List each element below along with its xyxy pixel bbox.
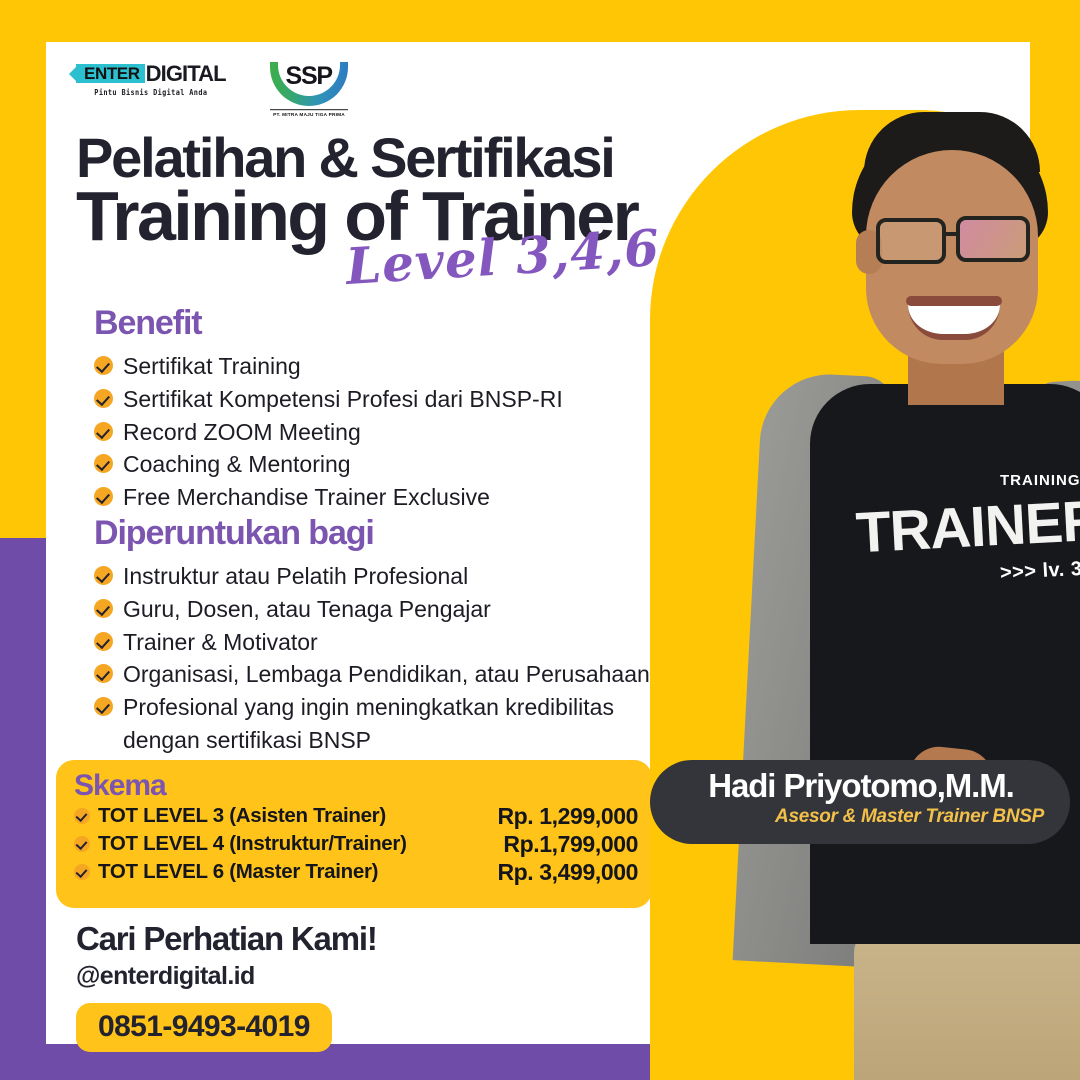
target-item-label: Guru, Dosen, atau Tenaga Pengajar	[123, 594, 491, 625]
target-item-label: Trainer & Motivator	[123, 627, 318, 658]
background-purple-left-band	[0, 538, 46, 1080]
ssp-mark-text: SSP	[270, 64, 348, 89]
check-icon	[94, 599, 113, 618]
check-icon	[94, 697, 113, 716]
target-audience-section: Diperuntukan bagi Instruktur atau Pelati…	[94, 514, 734, 756]
target-audience-list: Instruktur atau Pelatih ProfesionalGuru,…	[94, 561, 734, 723]
contact-cta-title: Cari Perhatian Kami!	[76, 920, 576, 958]
benefit-heading: Benefit	[94, 304, 714, 343]
ssp-logo: SSP PT. MITRA MAJU TIGA PRIMA	[268, 62, 350, 118]
tshirt-print-level: >>> lv. 3	[999, 558, 1080, 585]
check-icon	[94, 356, 113, 375]
check-icon	[94, 632, 113, 651]
phone-number-button[interactable]: 0851-9493-4019	[76, 1003, 332, 1052]
benefit-section: Benefit Sertifikat TrainingSertifikat Ko…	[94, 304, 714, 515]
enter-digital-tagline: Pintu Bisnis Digital Anda	[82, 88, 220, 97]
skema-heading: Skema	[74, 770, 638, 802]
check-icon	[94, 389, 113, 408]
enter-digital-logo: ENTER DIGITAL Pintu Bisnis Digital Anda	[76, 62, 226, 97]
benefit-item-label: Sertifikat Training	[123, 351, 301, 382]
speaker-name: Hadi Priyotomo,M.M.	[674, 769, 1048, 804]
upper-lip	[906, 296, 1002, 306]
skema-row: TOT LEVEL 3 (Asisten Trainer)Rp. 1,299,0…	[74, 803, 638, 830]
target-item: Guru, Dosen, atau Tenaga Pengajar	[94, 594, 734, 625]
eyeglasses-bridge	[944, 232, 960, 236]
target-item: Trainer & Motivator	[94, 627, 734, 658]
eyeglasses-left-lens	[876, 218, 946, 264]
tshirt-print-small: TRAINING O	[1000, 472, 1080, 489]
benefit-list: Sertifikat TrainingSertifikat Kompetensi…	[94, 351, 714, 513]
enter-digital-wordmark: ENTER DIGITAL	[76, 62, 226, 85]
check-icon	[74, 808, 90, 824]
skema-row: TOT LEVEL 6 (Master Trainer)Rp. 3,499,00…	[74, 859, 638, 886]
check-icon	[94, 566, 113, 585]
benefit-item: Sertifikat Training	[94, 351, 714, 382]
trousers	[854, 930, 1080, 1080]
enter-digital-word: DIGITAL	[146, 62, 226, 85]
skema-level-label: TOT LEVEL 3 (Asisten Trainer)	[98, 804, 386, 828]
benefit-item-label: Free Merchandise Trainer Exclusive	[123, 482, 490, 513]
check-icon	[74, 836, 90, 852]
skema-rows: TOT LEVEL 3 (Asisten Trainer)Rp. 1,299,0…	[74, 803, 638, 886]
skema-level-label: TOT LEVEL 6 (Master Trainer)	[98, 860, 378, 884]
target-item: Instruktur atau Pelatih Profesional	[94, 561, 734, 592]
benefit-item-label: Record ZOOM Meeting	[123, 417, 361, 448]
logo-row: ENTER DIGITAL Pintu Bisnis Digital Anda …	[76, 62, 350, 118]
check-icon	[94, 664, 113, 683]
check-icon	[94, 422, 113, 441]
enter-badge-text: ENTER	[76, 64, 145, 84]
skema-price: Rp. 3,499,000	[497, 859, 638, 886]
benefit-item: Sertifikat Kompetensi Profesi dari BNSP-…	[94, 384, 714, 415]
speaker-name-badge: Hadi Priyotomo,M.M. Asesor & Master Trai…	[650, 760, 1070, 844]
tshirt-print-large: TRAINER	[854, 488, 1080, 567]
target-item-label: Profesional yang ingin meningkatkan kred…	[123, 692, 614, 723]
tshirt	[810, 384, 1080, 944]
check-icon	[74, 864, 90, 880]
target-item: Organisasi, Lembaga Pendidikan, atau Per…	[94, 659, 734, 690]
target-item-label: Instruktur atau Pelatih Profesional	[123, 561, 468, 592]
instagram-handle[interactable]: @enterdigital.id	[76, 962, 576, 991]
target-item-label: Organisasi, Lembaga Pendidikan, atau Per…	[123, 659, 650, 690]
check-icon	[94, 454, 113, 473]
skema-price: Rp.1,799,000	[503, 831, 638, 858]
contact-section: Cari Perhatian Kami! @enterdigital.id 08…	[76, 920, 576, 1052]
benefit-item-label: Sertifikat Kompetensi Profesi dari BNSP-…	[123, 384, 563, 415]
benefit-item: Record ZOOM Meeting	[94, 417, 714, 448]
benefit-item-label: Coaching & Mentoring	[123, 449, 351, 480]
ssp-mark-icon: SSP	[270, 62, 348, 108]
skema-pricing-box: Skema TOT LEVEL 3 (Asisten Trainer)Rp. 1…	[56, 760, 652, 908]
target-audience-last-item-wrap: dengan sertifikasi BNSP	[94, 725, 734, 756]
eyeglasses-right-lens	[956, 216, 1030, 262]
skema-row: TOT LEVEL 4 (Instruktur/Trainer)Rp.1,799…	[74, 831, 638, 858]
target-item: Profesional yang ingin meningkatkan kred…	[94, 692, 734, 723]
speaker-photo: TRAINING O TRAINER >>> lv. 3	[640, 0, 1080, 1080]
speaker-role: Asesor & Master Trainer BNSP	[674, 806, 1048, 828]
benefit-item: Free Merchandise Trainer Exclusive	[94, 482, 714, 513]
benefit-item: Coaching & Mentoring	[94, 449, 714, 480]
target-audience-heading: Diperuntukan bagi	[94, 514, 734, 553]
skema-level-label: TOT LEVEL 4 (Instruktur/Trainer)	[98, 832, 407, 856]
ssp-subtitle: PT. MITRA MAJU TIGA PRIMA	[270, 109, 348, 118]
skema-price: Rp. 1,299,000	[497, 803, 638, 830]
check-icon	[94, 487, 113, 506]
